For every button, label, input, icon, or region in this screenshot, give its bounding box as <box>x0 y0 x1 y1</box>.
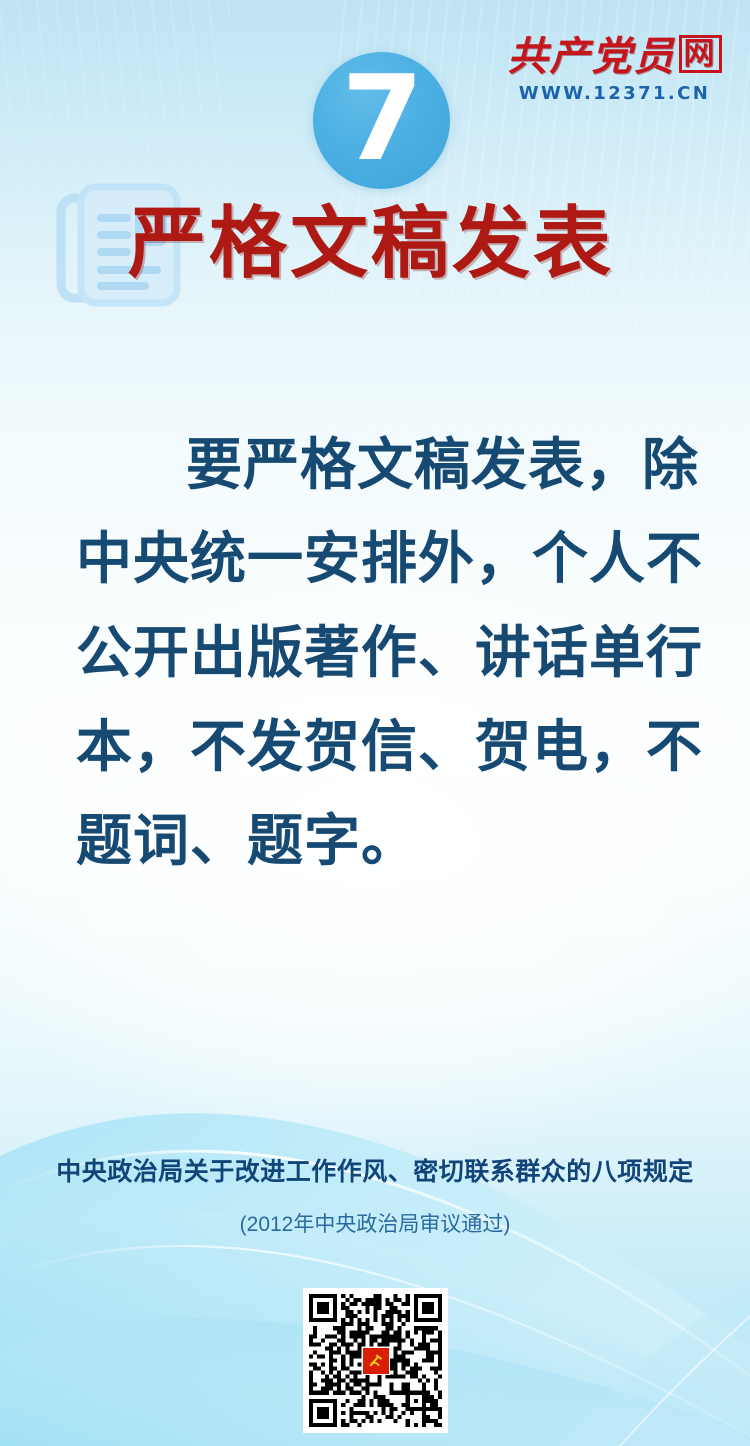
rule-body-text: 要严格文稿发表，除 中央统一安排外，个人不 公开出版著作、讲话单行 本，不发贺信… <box>76 418 676 888</box>
logo-brand-net: 网 <box>679 35 722 73</box>
regulation-title: 中央政治局关于改进工作作风、密切联系群众的八项规定 <box>0 1152 750 1188</box>
qr-code[interactable] <box>303 1288 448 1433</box>
logo-brand-chinese: 共产党员 <box>508 34 676 79</box>
body-line: 中央统一安排外，个人不 <box>76 512 676 606</box>
body-line: 题词、题字。 <box>76 794 676 888</box>
body-line: 要严格文稿发表，除 <box>76 418 676 512</box>
title-block: 严格文稿发表 <box>0 176 750 316</box>
poster-canvas: 共产党员网 WWW.12371.CN 7 严格文 <box>0 0 750 1446</box>
body-line: 公开出版著作、讲话单行 <box>76 606 676 700</box>
site-logo[interactable]: 共产党员网 WWW.12371.CN <box>497 34 732 104</box>
logo-brand-text: 共产党员网 <box>497 34 732 80</box>
page-title: 严格文稿发表 <box>128 188 614 298</box>
party-emblem-icon <box>362 1347 390 1375</box>
regulation-subtitle: (2012年中央政治局审议通过) <box>0 1208 750 1238</box>
body-line: 本，不发贺信、贺电，不 <box>76 700 676 794</box>
rule-number: 7 <box>341 64 423 172</box>
logo-url[interactable]: WWW.12371.CN <box>497 83 732 104</box>
rule-number-badge: 7 <box>313 52 450 189</box>
